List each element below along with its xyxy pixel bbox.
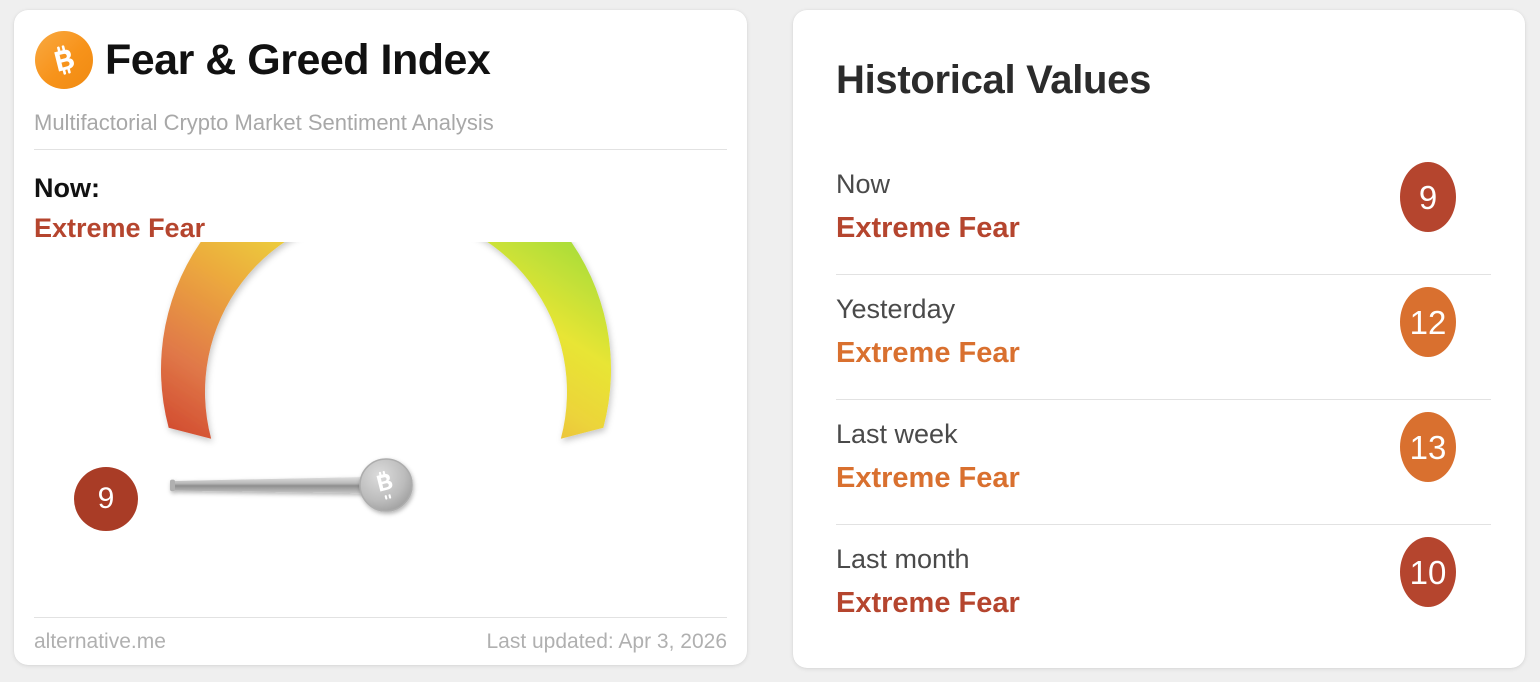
page-subtitle: Multifactorial Crypto Market Sentiment A… xyxy=(34,110,494,136)
history-sentiment-label: Extreme Fear xyxy=(836,212,1020,245)
history-value-badge: 9 xyxy=(1400,162,1456,232)
historical-values-title: Historical Values xyxy=(836,58,1151,103)
source-label[interactable]: alternative.me xyxy=(34,630,166,654)
page-root: Fear & Greed Index Multifactorial Crypto… xyxy=(0,0,1540,682)
history-period-label: Yesterday xyxy=(836,294,955,325)
history-sentiment-label: Extreme Fear xyxy=(836,462,1020,495)
bitcoin-icon xyxy=(35,31,93,89)
history-value-badge: 12 xyxy=(1400,287,1456,357)
footer-divider xyxy=(34,617,727,618)
page-title: Fear & Greed Index xyxy=(105,39,490,82)
historical-values-list: Now Extreme Fear 9 Yesterday Extreme Fea… xyxy=(836,150,1491,649)
now-label: Now: xyxy=(34,173,100,204)
now-sentiment-value: Extreme Fear xyxy=(34,213,205,244)
list-item[interactable]: Yesterday Extreme Fear 12 xyxy=(836,275,1491,400)
list-item[interactable]: Last week Extreme Fear 13 xyxy=(836,400,1491,525)
history-sentiment-label: Extreme Fear xyxy=(836,587,1020,620)
list-item[interactable]: Last month Extreme Fear 10 xyxy=(836,525,1491,649)
gauge-card-header: Fear & Greed Index xyxy=(35,31,490,89)
history-period-label: Last month xyxy=(836,544,970,575)
history-value-badge: 13 xyxy=(1400,412,1456,482)
fear-greed-gauge-card: Fear & Greed Index Multifactorial Crypto… xyxy=(14,10,747,665)
history-period-label: Last week xyxy=(836,419,958,450)
history-sentiment-label: Extreme Fear xyxy=(836,337,1020,370)
historical-values-card: Historical Values Now Extreme Fear 9 Yes… xyxy=(793,10,1525,668)
gauge-value-badge: 9 xyxy=(74,467,138,531)
last-updated-label: Last updated: Apr 3, 2026 xyxy=(486,630,727,654)
gauge-chart xyxy=(54,242,714,602)
history-value-badge: 10 xyxy=(1400,537,1456,607)
history-period-label: Now xyxy=(836,169,890,200)
header-divider xyxy=(34,149,727,150)
list-item[interactable]: Now Extreme Fear 9 xyxy=(836,150,1491,275)
